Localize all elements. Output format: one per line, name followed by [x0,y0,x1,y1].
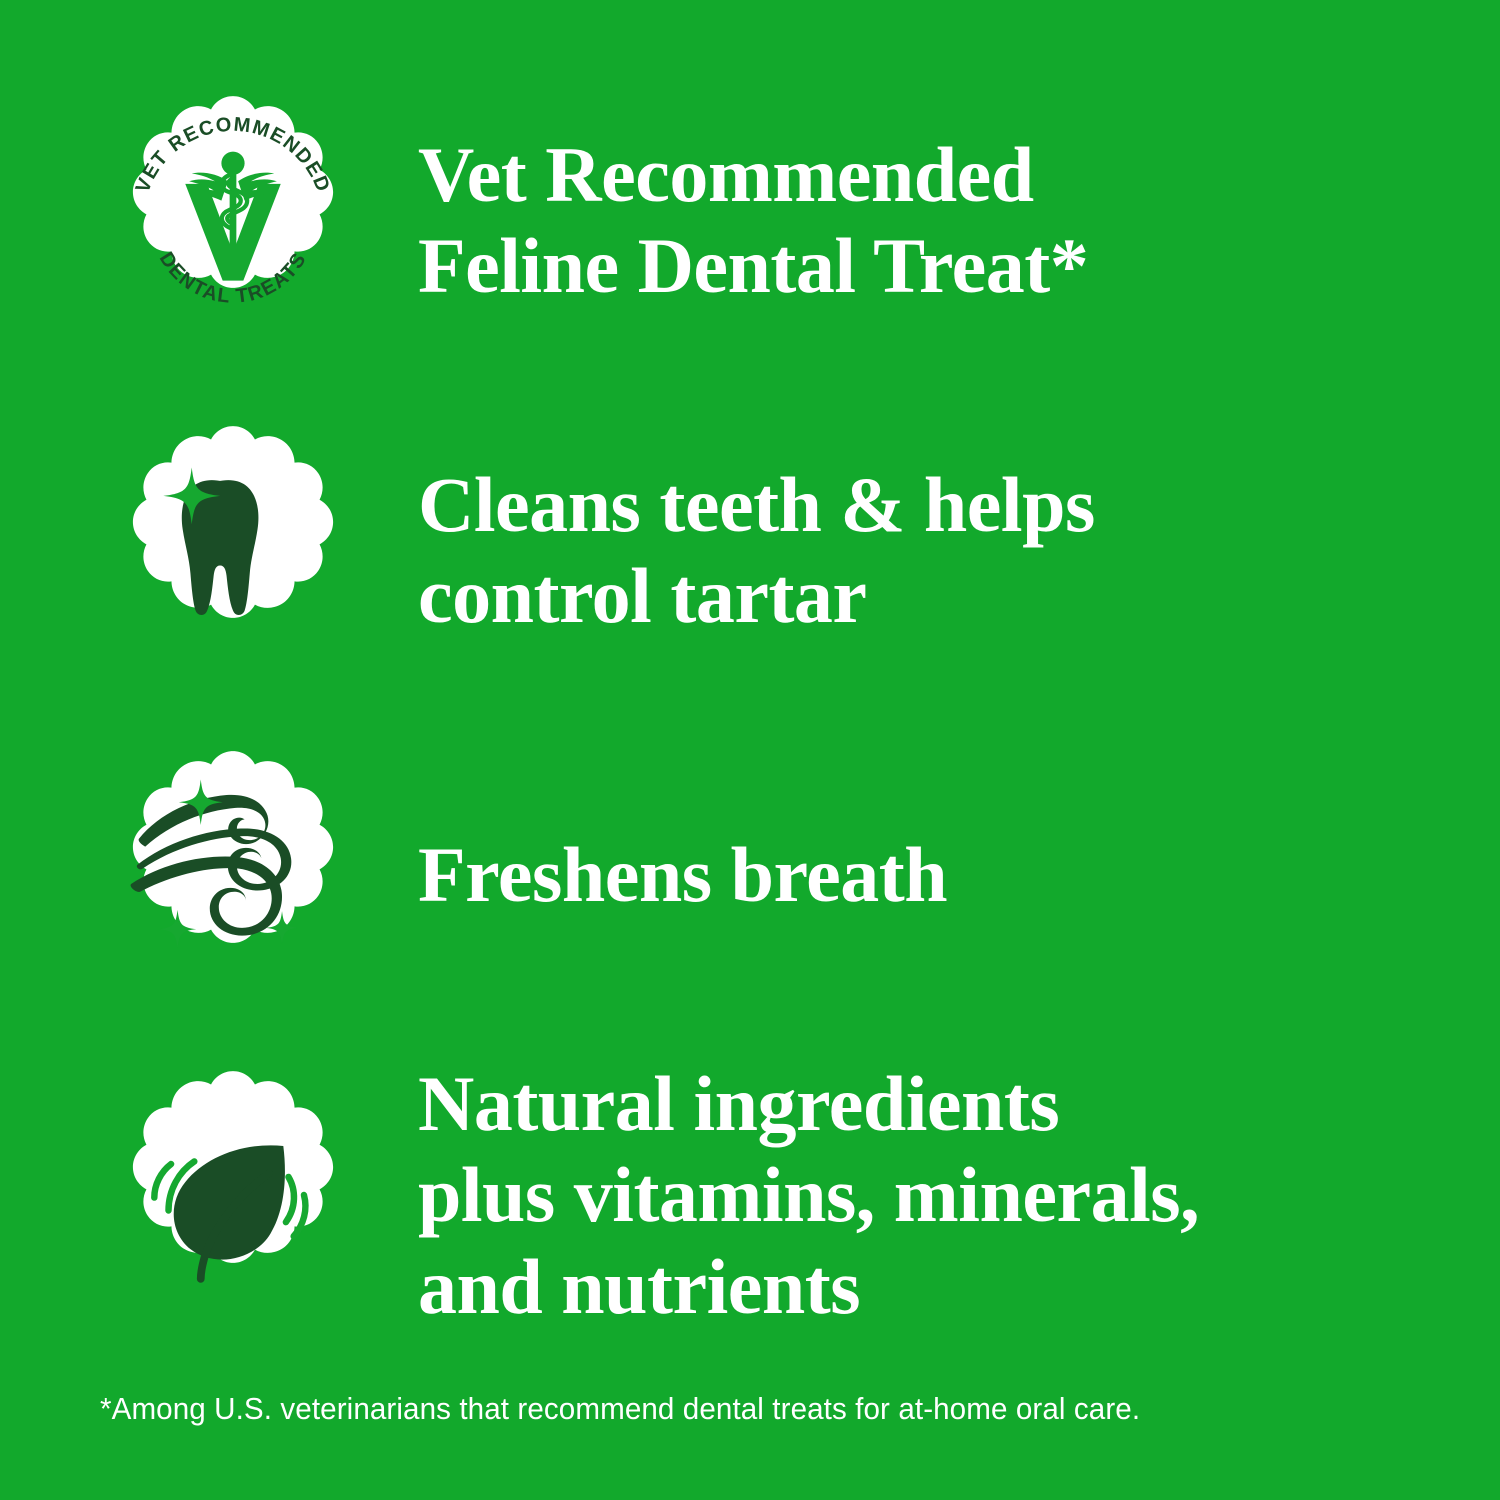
badge-scallop-shape [132,751,332,943]
vet-recommended-seal-icon: VET RECOMMENDED DENTAL TREATS [95,75,370,365]
feature-label-freshens-breath: Freshens breath [418,829,947,920]
feature-label-cleans-teeth: Cleans teeth & helps control tartar [418,459,1095,642]
sparkling-tooth-icon [95,405,370,695]
feature-row-natural-ingredients: Natural ingredients plus vitamins, miner… [95,1050,1199,1340]
feature-label-vet-recommended: Vet Recommended Feline Dental Treat* [418,129,1088,312]
feature-label-natural-ingredients: Natural ingredients plus vitamins, miner… [418,1058,1199,1332]
feature-row-cleans-teeth: Cleans teeth & helps control tartar [95,405,1095,695]
fresh-breath-wind-icon [95,730,370,1020]
feature-row-vet-recommended: VET RECOMMENDED DENTAL TREATS [95,75,1088,365]
footnote-disclaimer: *Among U.S. veterinarians that recommend… [100,1392,1380,1427]
product-benefits-panel: VET RECOMMENDED DENTAL TREATS [0,0,1500,1500]
natural-leaf-icon [95,1050,370,1340]
feature-row-freshens-breath: Freshens breath [95,730,947,1020]
